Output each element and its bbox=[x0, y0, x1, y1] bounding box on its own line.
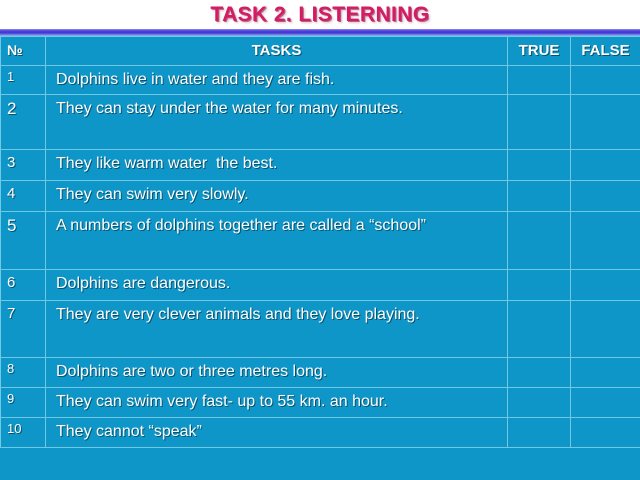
row-number-cell: 5 bbox=[1, 212, 46, 270]
row-task-text: They can swim very fast- up to 55 km. an… bbox=[46, 388, 507, 416]
row-number-cell: 10 bbox=[1, 418, 46, 447]
row-false-cell[interactable] bbox=[571, 150, 640, 181]
row-number: 8 bbox=[1, 358, 45, 377]
row-false-mark bbox=[571, 181, 640, 203]
row-true-mark bbox=[508, 358, 570, 380]
table-row: 2 They can stay under the water for many… bbox=[1, 95, 640, 150]
row-false-cell[interactable] bbox=[571, 301, 640, 358]
row-false-cell[interactable] bbox=[571, 358, 640, 388]
row-true-cell[interactable] bbox=[508, 150, 571, 181]
table-header-row: № TASKS TRUE FALSE bbox=[1, 37, 640, 66]
row-false-cell[interactable] bbox=[571, 388, 640, 418]
row-false-mark bbox=[571, 66, 640, 88]
row-number-cell: 8 bbox=[1, 358, 46, 388]
row-task-text: They cannot “speak” bbox=[46, 418, 507, 446]
row-true-mark bbox=[508, 212, 570, 234]
row-number-cell: 7 bbox=[1, 301, 46, 358]
row-true-cell[interactable] bbox=[508, 418, 571, 447]
row-true-cell[interactable] bbox=[508, 95, 571, 150]
row-number: 1 bbox=[1, 66, 45, 85]
title-divider-bar bbox=[0, 29, 640, 36]
task-table: № TASKS TRUE FALSE 1 bbox=[0, 36, 640, 448]
row-false-mark bbox=[571, 418, 640, 440]
column-header-number: № bbox=[1, 37, 46, 66]
row-true-mark bbox=[508, 418, 570, 440]
table-row: 9 They can swim very fast- up to 55 km. … bbox=[1, 388, 640, 418]
row-false-mark bbox=[571, 270, 640, 292]
row-false-mark bbox=[571, 388, 640, 410]
row-true-cell[interactable] bbox=[508, 66, 571, 95]
row-task-text: Dolphins are two or three metres long. bbox=[46, 358, 507, 386]
column-header-false: FALSE bbox=[571, 37, 640, 66]
task-table-container: № TASKS TRUE FALSE 1 bbox=[0, 36, 640, 480]
column-header-number-label: № bbox=[1, 43, 45, 58]
row-number: 10 bbox=[1, 418, 45, 437]
row-number-cell: 6 bbox=[1, 270, 46, 301]
row-true-mark bbox=[508, 181, 570, 203]
row-true-cell[interactable] bbox=[508, 212, 571, 270]
row-task-text: Dolphins live in water and they are fish… bbox=[46, 66, 507, 94]
column-header-true: TRUE bbox=[508, 37, 571, 66]
table-row: 6 Dolphins are dangerous. bbox=[1, 270, 640, 301]
row-number: 5 bbox=[1, 212, 45, 236]
row-true-mark bbox=[508, 301, 570, 323]
row-false-mark bbox=[571, 150, 640, 172]
row-number: 4 bbox=[1, 181, 45, 202]
row-true-mark bbox=[508, 66, 570, 88]
column-header-tasks-label: TASKS bbox=[46, 43, 507, 60]
row-false-cell[interactable] bbox=[571, 270, 640, 301]
row-task-cell: They are very clever animals and they lo… bbox=[46, 301, 508, 358]
table-row: 1 Dolphins live in water and they are fi… bbox=[1, 66, 640, 95]
row-true-cell[interactable] bbox=[508, 301, 571, 358]
row-false-mark bbox=[571, 358, 640, 380]
table-row: 7 They are very clever animals and they … bbox=[1, 301, 640, 358]
row-task-cell: They can swim very fast- up to 55 km. an… bbox=[46, 388, 508, 418]
row-number: 3 bbox=[1, 150, 45, 171]
row-false-mark bbox=[571, 212, 640, 234]
row-false-mark bbox=[571, 301, 640, 323]
row-task-cell: They can swim very slowly. bbox=[46, 181, 508, 212]
table-row: 5 A numbers of dolphins together are cal… bbox=[1, 212, 640, 270]
row-task-cell: A numbers of dolphins together are calle… bbox=[46, 212, 508, 270]
row-number-cell: 1 bbox=[1, 66, 46, 95]
row-task-cell: They cannot “speak” bbox=[46, 418, 508, 447]
row-number: 2 bbox=[1, 95, 45, 119]
row-number: 7 bbox=[1, 301, 45, 322]
column-header-true-label: TRUE bbox=[508, 43, 570, 60]
table-row: 10 They cannot “speak” bbox=[1, 418, 640, 447]
table-row: 3 They like warm water the best. bbox=[1, 150, 640, 181]
row-task-text: They can swim very slowly. bbox=[46, 181, 507, 209]
row-number: 6 bbox=[1, 270, 45, 291]
title-band: TASK 2. LISTERNING bbox=[0, 0, 640, 29]
row-true-mark bbox=[508, 270, 570, 292]
row-false-cell[interactable] bbox=[571, 418, 640, 447]
row-number-cell: 2 bbox=[1, 95, 46, 150]
page-title: TASK 2. LISTERNING bbox=[210, 3, 429, 27]
row-task-cell: Dolphins live in water and they are fish… bbox=[46, 66, 508, 95]
row-task-cell: Dolphins are two or three metres long. bbox=[46, 358, 508, 388]
slide-canvas: TASK 2. LISTERNING № TASKS TRUE bbox=[0, 0, 640, 480]
column-header-false-label: FALSE bbox=[571, 43, 640, 60]
row-true-mark bbox=[508, 150, 570, 172]
row-false-cell[interactable] bbox=[571, 181, 640, 212]
row-false-cell[interactable] bbox=[571, 66, 640, 95]
row-true-mark bbox=[508, 388, 570, 410]
row-false-cell[interactable] bbox=[571, 95, 640, 150]
row-true-cell[interactable] bbox=[508, 358, 571, 388]
table-row: 4 They can swim very slowly. bbox=[1, 181, 640, 212]
row-number-cell: 9 bbox=[1, 388, 46, 418]
row-true-cell[interactable] bbox=[508, 181, 571, 212]
row-task-cell: Dolphins are dangerous. bbox=[46, 270, 508, 301]
row-true-cell[interactable] bbox=[508, 270, 571, 301]
row-task-cell: They like warm water the best. bbox=[46, 150, 508, 181]
row-task-text: They can stay under the water for many m… bbox=[46, 95, 507, 123]
row-false-cell[interactable] bbox=[571, 212, 640, 270]
row-task-text: They are very clever animals and they lo… bbox=[46, 301, 507, 329]
row-false-mark bbox=[571, 95, 640, 117]
row-number: 9 bbox=[1, 388, 45, 407]
column-header-tasks: TASKS bbox=[46, 37, 508, 66]
row-task-text: They like warm water the best. bbox=[46, 150, 507, 178]
row-number-cell: 4 bbox=[1, 181, 46, 212]
row-task-text: Dolphins are dangerous. bbox=[46, 270, 507, 298]
row-true-mark bbox=[508, 95, 570, 117]
table-row: 8 Dolphins are two or three metres long. bbox=[1, 358, 640, 388]
row-true-cell[interactable] bbox=[508, 388, 571, 418]
row-task-cell: They can stay under the water for many m… bbox=[46, 95, 508, 150]
row-task-text: A numbers of dolphins together are calle… bbox=[46, 212, 507, 240]
row-number-cell: 3 bbox=[1, 150, 46, 181]
